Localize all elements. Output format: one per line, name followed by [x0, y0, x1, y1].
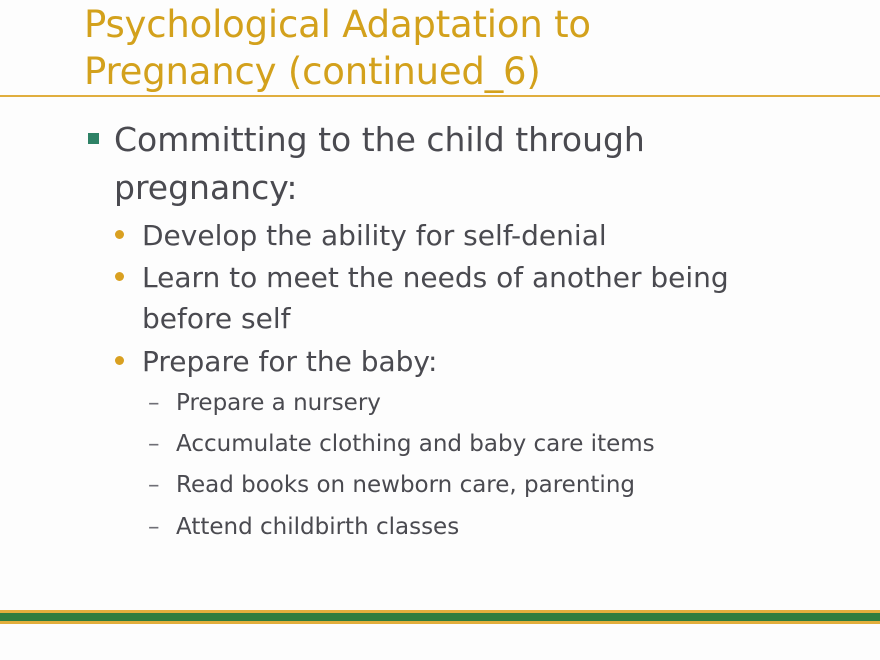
bullet-text: Learn to meet the needs of another being… [142, 257, 770, 339]
bullet-text: Prepare a nursery [176, 383, 790, 424]
slide-body: Committing to the child through pregnanc… [0, 116, 880, 548]
title-divider-rule [0, 95, 880, 97]
bullet-item-level-3: –Read books on newborn care, parenting [0, 465, 880, 506]
round-bullet-icon [115, 272, 124, 281]
footer-decorative-band [0, 610, 880, 624]
bullet-text: Prepare for the baby: [142, 341, 770, 382]
dash-bullet-icon: – [148, 383, 160, 424]
slide-title: Psychological Adaptation to Pregnancy (c… [84, 2, 784, 95]
bullet-text: Committing to the child through pregnanc… [114, 116, 770, 211]
bullet-item-level-1: Committing to the child through pregnanc… [0, 116, 880, 211]
round-bullet-icon [115, 230, 124, 239]
bullet-text: Accumulate clothing and baby care items [176, 424, 790, 465]
dash-bullet-icon: – [148, 424, 160, 465]
title-block: Psychological Adaptation to Pregnancy (c… [84, 2, 784, 95]
bullet-item-level-2: Learn to meet the needs of another being… [0, 257, 880, 339]
bullet-text: Read books on newborn care, parenting [176, 465, 790, 506]
bullet-item-level-3: –Accumulate clothing and baby care items [0, 424, 880, 465]
dash-bullet-icon: – [148, 465, 160, 506]
bullet-text: Develop the ability for self-denial [142, 215, 770, 256]
bullet-item-level-2: Develop the ability for self-denial [0, 215, 880, 256]
footer-band-gold-bottom [0, 621, 880, 624]
dash-bullet-icon: – [148, 507, 160, 548]
bullet-text: Attend childbirth classes [176, 507, 790, 548]
round-bullet-icon [115, 356, 124, 365]
bullet-item-level-3: –Prepare a nursery [0, 383, 880, 424]
bullet-item-level-3: –Attend childbirth classes [0, 507, 880, 548]
square-bullet-icon [88, 133, 99, 144]
bullet-item-level-2: Prepare for the baby: [0, 341, 880, 382]
slide-canvas: Psychological Adaptation to Pregnancy (c… [0, 0, 880, 660]
footer-band-green [0, 613, 880, 621]
